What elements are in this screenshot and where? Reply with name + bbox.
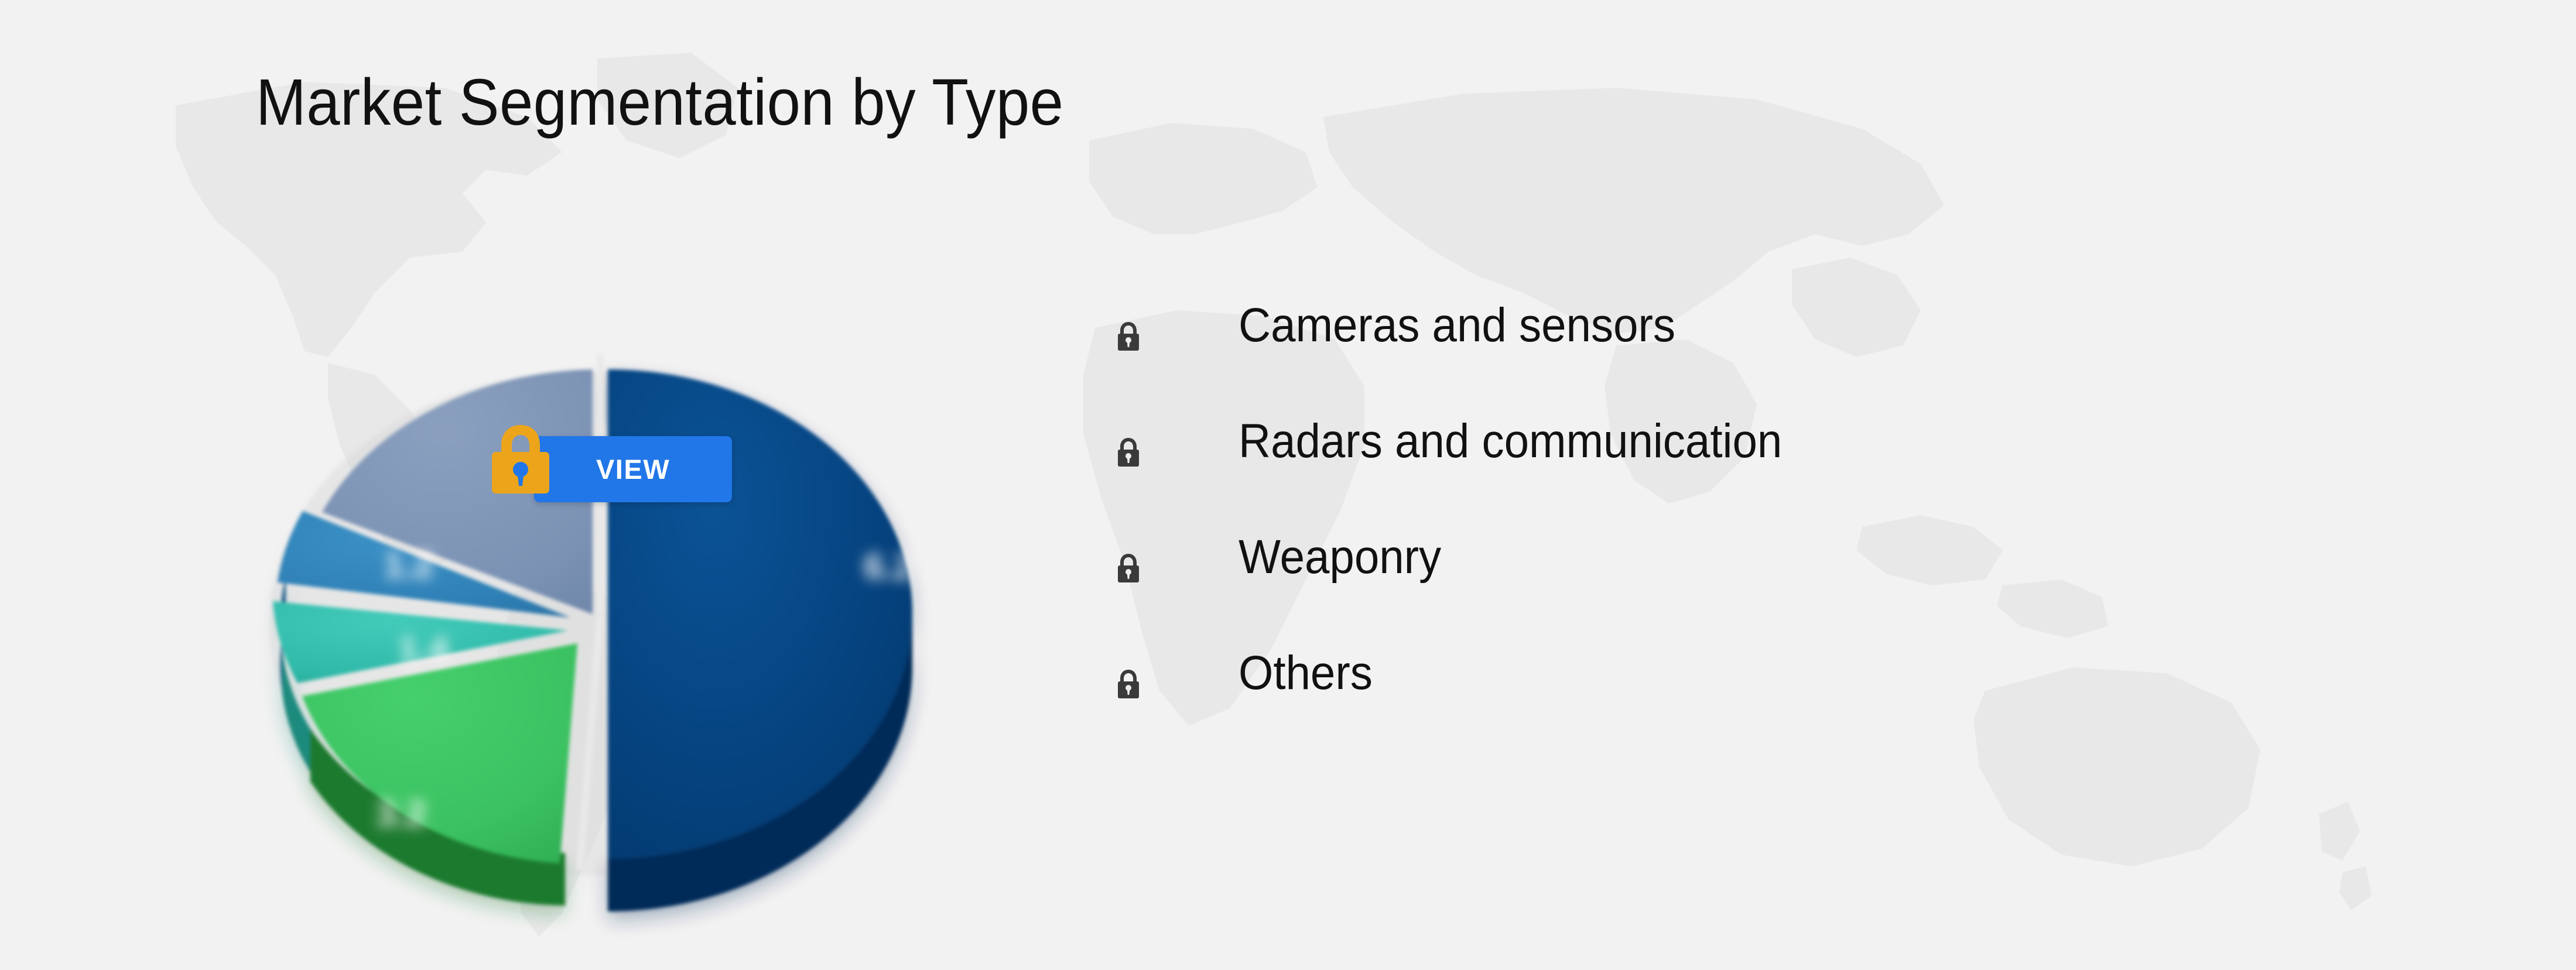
lock-icon	[1116, 321, 1141, 351]
lock-icon	[486, 420, 555, 493]
page-title: Market Segmentation by Type	[256, 64, 1063, 140]
lock-icon	[1116, 437, 1141, 467]
legend-item-weaponry[interactable]: Weaponry	[1116, 525, 2345, 640]
lock-icon	[1116, 669, 1141, 699]
legend-item-cameras-and-sensors[interactable]: Cameras and sensors	[1116, 293, 2345, 409]
view-button[interactable]: VIEW	[534, 436, 732, 502]
legend-item-label: Radars and communication	[1239, 417, 1782, 465]
chart-legend: Cameras and sensors Radars and communica…	[1116, 293, 2345, 756]
legend-item-label: Others	[1239, 649, 1373, 697]
locked-content-overlay: VIEW	[486, 420, 732, 502]
legend-item-radars-and-communication[interactable]: Radars and communication	[1116, 409, 2345, 525]
view-button-label: VIEW	[596, 453, 670, 485]
legend-item-label: Cameras and sensors	[1239, 301, 1675, 349]
pie-chart-svg	[135, 167, 1048, 945]
legend-item-label: Weaponry	[1239, 533, 1441, 581]
legend-item-others[interactable]: Others	[1116, 640, 2345, 756]
pie-chart: 6.2 3.2 1.4 1.2 3.4	[135, 167, 1048, 945]
lock-icon	[1116, 553, 1141, 583]
